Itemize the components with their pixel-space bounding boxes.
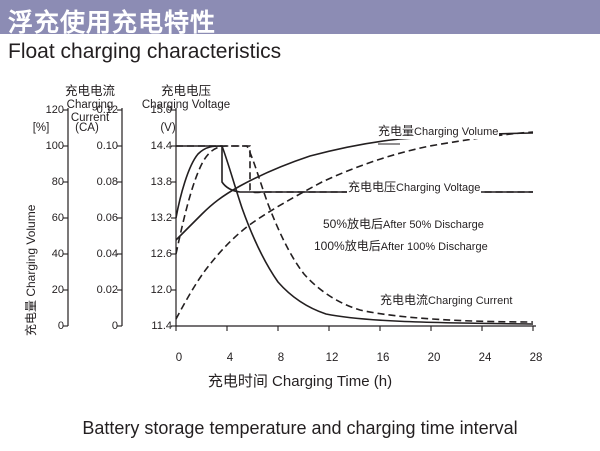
footer-caption: Battery storage temperature and charging…: [0, 418, 600, 439]
annotation-charging-voltage: 充电电压Charging Voltage: [347, 178, 481, 195]
annotation-after-50-en: After 50% Discharge: [383, 219, 484, 231]
annotation-charging-volume-cn: 充电量: [378, 124, 414, 138]
chart-svg: [0, 78, 600, 378]
annotation-charging-voltage-cn: 充电电压: [348, 180, 396, 194]
annotation-charging-volume: 充电量Charging Volume: [377, 122, 499, 139]
tick-marks-percent: [63, 110, 68, 326]
annotation-after-50-cn: 50%放电后: [323, 217, 383, 231]
tick-marks-current: [117, 110, 122, 326]
annotation-after-100-en: After 100% Discharge: [381, 241, 488, 253]
title-banner: 浮充使用充电特性: [0, 0, 600, 34]
tick-marks-voltage: [171, 110, 176, 326]
annotation-after-50-discharge: 50%放电后After 50% Discharge: [322, 215, 485, 232]
annotation-charging-current: 充电电流Charging Current: [379, 291, 513, 308]
annotation-charging-voltage-en: Charging Voltage: [396, 182, 480, 194]
tick-marks-x: [176, 326, 533, 331]
page-title-cn: 浮充使用充电特性: [8, 3, 216, 39]
annotation-charging-current-cn: 充电电流: [380, 293, 428, 307]
annotation-charging-current-en: Charging Current: [428, 295, 512, 307]
annotation-after-100-discharge: 100%放电后After 100% Discharge: [313, 237, 489, 254]
page-title-en: Float charging characteristics: [8, 40, 281, 64]
annotation-after-100-cn: 100%放电后: [314, 239, 381, 253]
annotation-charging-volume-en: Charging Volume: [414, 126, 498, 138]
chart-area: [%] 充电电流 Charging Current (CA) 充电电压 Char…: [0, 78, 600, 408]
